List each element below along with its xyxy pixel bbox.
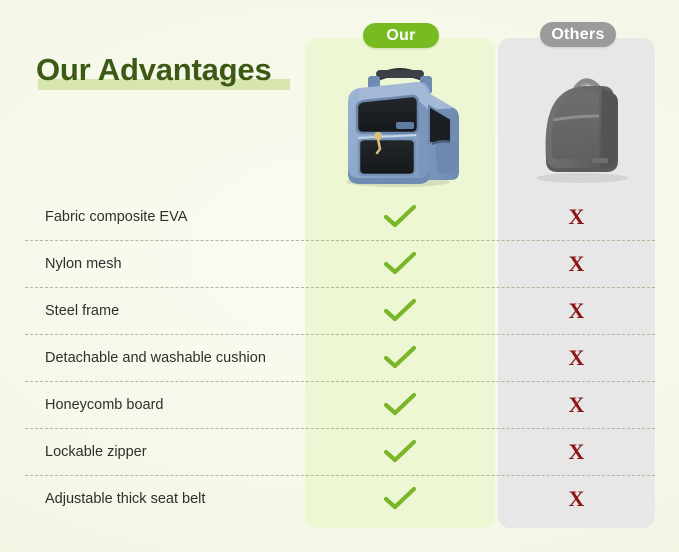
x-icon: X [569,206,585,228]
table-row: Detachable and washable cushion X [0,334,679,381]
blue-pet-carrier-backpack-image [332,56,468,193]
page-title: Our Advantages [36,52,272,88]
x-icon: X [569,347,585,369]
table-row: Nylon mesh X [0,240,679,287]
others-cell: X [498,428,655,475]
check-icon [383,392,417,418]
gray-pet-carrier-backpack-image [522,58,642,193]
comparison-table: Fabric composite EVA X Nylon mesh X Stee… [0,193,679,522]
x-icon: X [569,394,585,416]
feature-label: Fabric composite EVA [45,193,187,240]
feature-label: Adjustable thick seat belt [45,475,205,522]
others-column-badge: Others [540,22,616,47]
table-row: Lockable zipper X [0,428,679,475]
comparison-infographic: Our Advantages Our Others [0,0,679,552]
table-row: Honeycomb board X [0,381,679,428]
page-title-group: Our Advantages [36,52,272,88]
our-cell [305,193,495,240]
feature-label: Detachable and washable cushion [45,334,266,381]
our-cell [305,475,495,522]
our-cell [305,334,495,381]
check-icon [383,439,417,465]
others-cell: X [498,334,655,381]
x-icon: X [569,253,585,275]
our-column-badge: Our [363,23,439,48]
our-cell [305,381,495,428]
check-icon [383,204,417,230]
x-icon: X [569,488,585,510]
x-icon: X [569,441,585,463]
feature-label: Honeycomb board [45,381,164,428]
table-row: Adjustable thick seat belt X [0,475,679,522]
others-cell: X [498,475,655,522]
our-cell [305,287,495,334]
our-cell [305,240,495,287]
table-row: Steel frame X [0,287,679,334]
others-cell: X [498,240,655,287]
feature-label: Nylon mesh [45,240,122,287]
our-cell [305,428,495,475]
feature-label: Steel frame [45,287,119,334]
x-icon: X [569,300,585,322]
others-cell: X [498,381,655,428]
feature-label: Lockable zipper [45,428,147,475]
check-icon [383,345,417,371]
check-icon [383,486,417,512]
check-icon [383,251,417,277]
others-cell: X [498,287,655,334]
table-row: Fabric composite EVA X [0,193,679,240]
others-cell: X [498,193,655,240]
check-icon [383,298,417,324]
